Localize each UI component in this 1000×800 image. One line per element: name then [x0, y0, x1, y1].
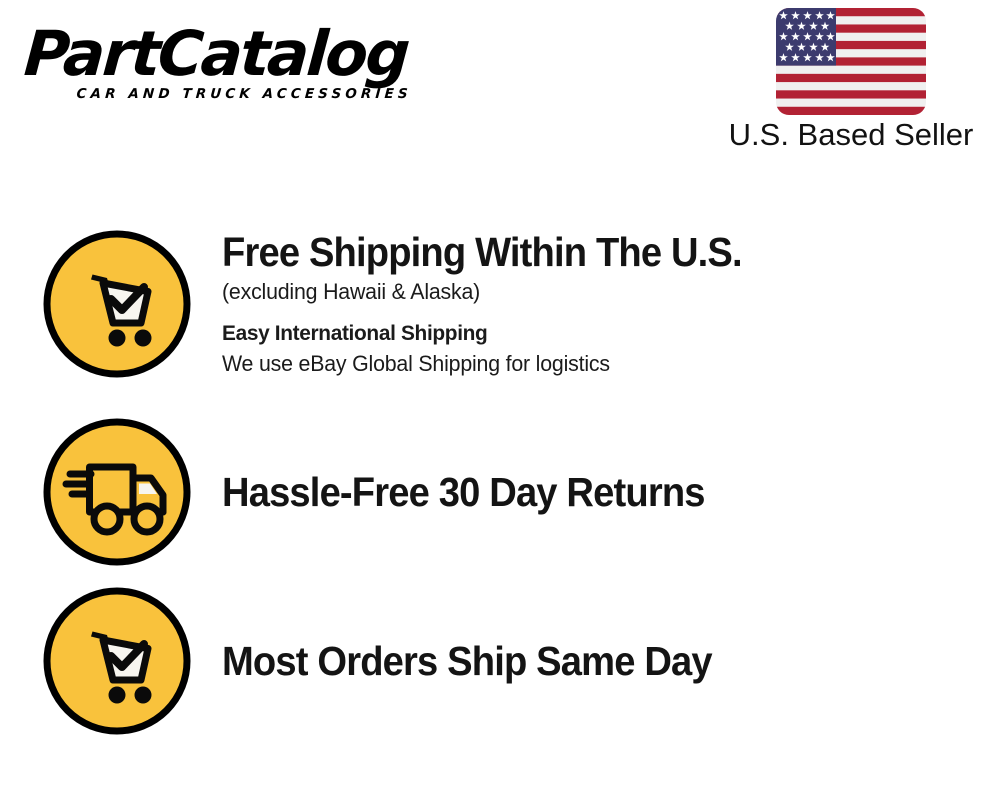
brand-wordmark: PartCatalog	[22, 18, 497, 90]
feature-row: Free Shipping Within The U.S. (excluding…	[0, 228, 1000, 398]
delivery-truck-icon	[41, 416, 193, 568]
feature-row: Most Orders Ship Same Day	[0, 570, 1000, 742]
promo-banner: PartCatalog CAR AND TRUCK ACCESSORIES	[0, 0, 1000, 800]
feature-list: Free Shipping Within The U.S. (excluding…	[0, 228, 1000, 742]
feature-text: Most Orders Ship Same Day	[193, 585, 1000, 737]
feature-detail: We use eBay Global Shipping for logistic…	[222, 349, 977, 379]
feature-text: Hassle-Free 30 Day Returns	[193, 416, 1000, 568]
feature-note: (excluding Hawaii & Alaska)	[222, 277, 977, 307]
feature-title: Hassle-Free 30 Day Returns	[222, 468, 705, 516]
brand-logo: PartCatalog CAR AND TRUCK ACCESSORIES	[22, 18, 492, 118]
us-flag-icon	[776, 8, 926, 115]
shopping-cart-check-icon	[41, 228, 193, 380]
us-based-seller-badge: U.S. Based Seller	[716, 8, 986, 153]
feature-subtitle: Easy International Shipping	[222, 318, 977, 348]
feature-title: Most Orders Ship Same Day	[222, 637, 712, 685]
shopping-cart-check-icon	[41, 585, 193, 737]
feature-title: Free Shipping Within The U.S.	[222, 228, 946, 276]
brand-tagline: CAR AND TRUCK ACCESSORIES	[76, 86, 493, 102]
feature-text: Free Shipping Within The U.S. (excluding…	[193, 228, 1000, 379]
us-based-seller-label: U.S. Based Seller	[729, 117, 974, 153]
feature-row: Hassle-Free 30 Day Returns	[0, 398, 1000, 570]
